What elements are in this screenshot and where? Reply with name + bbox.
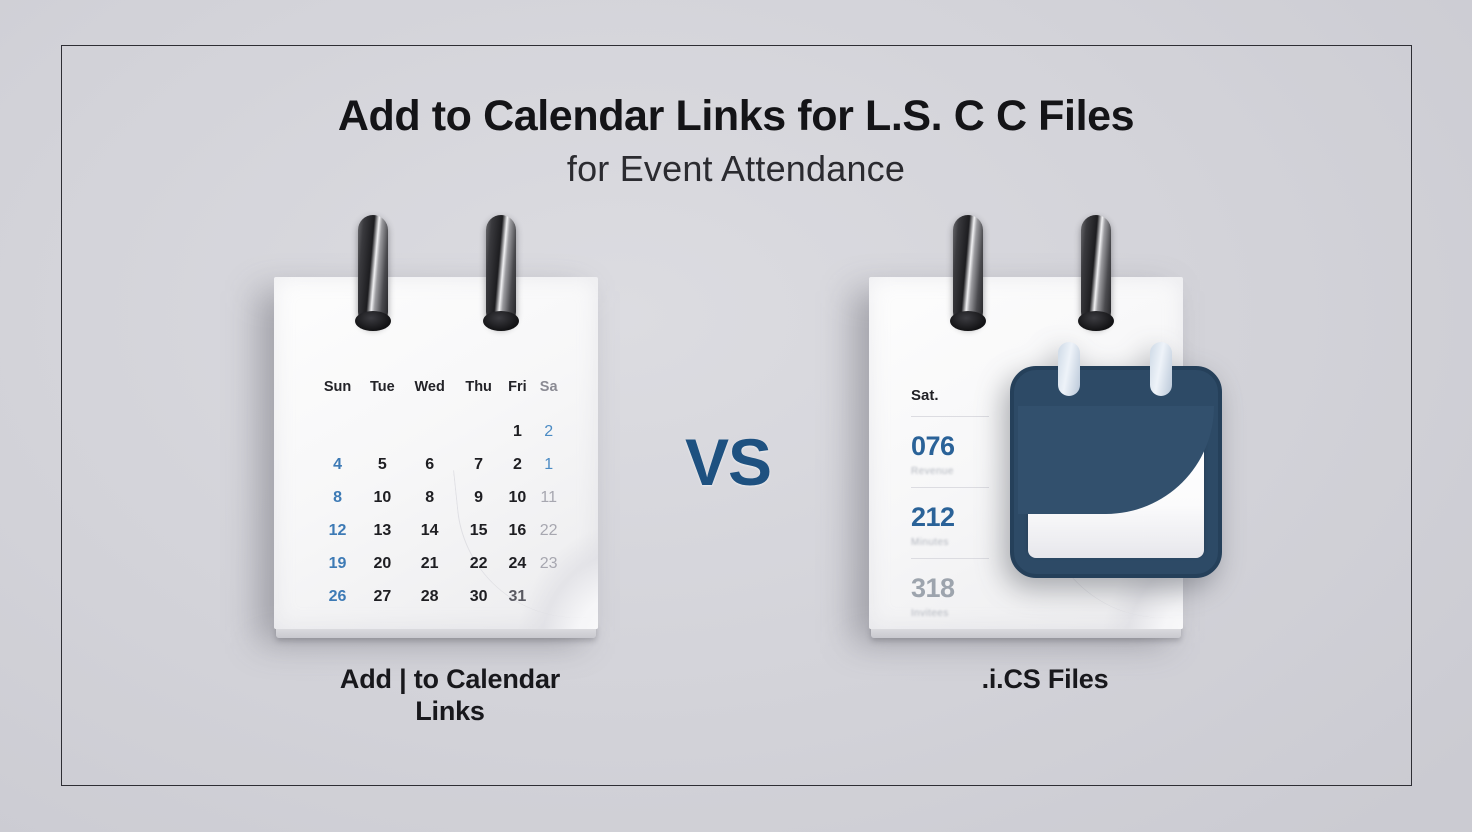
left-caption-line-1: Add | to Calendar (300, 664, 600, 696)
calendar-day-cell[interactable]: 16 (501, 514, 533, 547)
calendar-week-row: 19 20 21 22 24 23 (314, 547, 564, 580)
left-comparison-panel: Sun Tue Wed Thu Fri Sa (274, 277, 598, 629)
calendar-day-cell[interactable]: 11 (533, 481, 564, 514)
calendar-day-cell[interactable]: 27 (361, 580, 403, 613)
calendar-day-cell[interactable]: 1 (501, 415, 533, 448)
binder-ring-icon (358, 215, 388, 327)
binder-ring-icon (486, 215, 516, 327)
weekday-header-thu: Thu (456, 379, 502, 415)
weekday-header-wed: Wed (404, 379, 456, 415)
page-subtitle: for Event Attendance (0, 148, 1472, 190)
right-caption-line-1: .i.CS Files (895, 664, 1195, 696)
calendar-day-cell[interactable]: 9 (456, 481, 502, 514)
weekday-header-tue: Tue (361, 379, 403, 415)
calendar-day-cell[interactable]: 22 (456, 547, 502, 580)
calendar-day-cell[interactable]: 19 (314, 547, 361, 580)
calendar-day-cell[interactable]: 28 (404, 580, 456, 613)
calendar-day-cell[interactable]: 13 (361, 514, 403, 547)
weekday-header-fri: Fri (501, 379, 533, 415)
calendar-day-cell[interactable]: 21 (404, 547, 456, 580)
calendar-day-cell[interactable] (314, 415, 361, 448)
calendar-day-cell[interactable]: 26 (314, 580, 361, 613)
calendar-day-cell[interactable]: 10 (361, 481, 403, 514)
calendar-day-cell[interactable]: 20 (361, 547, 403, 580)
weekday-header-sat: Sa (533, 379, 564, 415)
calendar-day-cell[interactable] (456, 415, 502, 448)
stats-value: 212 (911, 502, 989, 533)
stats-sublabel: Invitees (911, 608, 989, 619)
calendar-week-row: 8 10 8 9 10 11 (314, 481, 564, 514)
calendar-sheet: Sun Tue Wed Thu Fri Sa (274, 277, 598, 629)
calendar-day-cell[interactable]: 24 (501, 547, 533, 580)
left-caption-line-2: Links (300, 696, 600, 728)
calendar-day-cell[interactable]: 12 (314, 514, 361, 547)
binder-ring-icon (953, 215, 983, 327)
calendar-day-cell[interactable]: 8 (314, 481, 361, 514)
stats-row[interactable]: 318 Invitees (911, 559, 989, 629)
calendar-day-cell[interactable]: 31 (501, 580, 533, 613)
calendar-day-cell[interactable]: 23 (533, 547, 564, 580)
weekday-header-row: Sun Tue Wed Thu Fri Sa (314, 379, 564, 415)
calendar-day-cell[interactable]: 2 (501, 448, 533, 481)
calendar-day-cell[interactable]: 22 (533, 514, 564, 547)
calendar-peg-icon (1150, 342, 1172, 396)
binder-ring-icon (1081, 215, 1111, 327)
calendar-day-cell[interactable]: 6 (404, 448, 456, 481)
calendar-week-row: 4 5 6 7 2 1 (314, 448, 564, 481)
stats-value: 318 (911, 573, 989, 604)
calendar-day-cell[interactable]: 4 (314, 448, 361, 481)
left-panel-caption: Add | to Calendar Links (300, 664, 600, 728)
calendar-day-cell[interactable]: 8 (404, 481, 456, 514)
stats-column-header: Sat. (911, 387, 989, 417)
calendar-week-row: 1 2 (314, 415, 564, 448)
stats-value: 076 (911, 431, 989, 462)
versus-separator-label: VS (668, 424, 788, 500)
page-title: Add to Calendar Links for L.S. C C Files (0, 92, 1472, 141)
right-panel-caption: .i.CS Files (895, 664, 1195, 696)
stats-column: Sat. 076 Revenue 212 Minutes 318 Invitee… (911, 387, 989, 629)
month-grid: Sun Tue Wed Thu Fri Sa (314, 379, 564, 613)
calendar-day-cell[interactable]: 5 (361, 448, 403, 481)
calendar-week-row: 26 27 28 30 31 (314, 580, 564, 613)
calendar-peg-icon (1058, 342, 1080, 396)
calendar-day-cell[interactable]: 10 (501, 481, 533, 514)
calendar-icon-body (1010, 366, 1222, 578)
calendar-icon (1010, 366, 1222, 578)
calendar-day-cell[interactable]: 14 (404, 514, 456, 547)
calendar-day-cell[interactable]: 2 (533, 415, 564, 448)
stats-sublabel: Revenue (911, 466, 989, 477)
stats-row[interactable]: 212 Minutes (911, 488, 989, 559)
calendar-day-cell[interactable]: 30 (456, 580, 502, 613)
stats-row[interactable]: 076 Revenue (911, 417, 989, 488)
calendar-day-cell[interactable]: 7 (456, 448, 502, 481)
calendar-day-cell[interactable] (533, 580, 564, 613)
calendar-day-cell[interactable] (404, 415, 456, 448)
weekday-header-sun: Sun (314, 379, 361, 415)
stats-sublabel: Minutes (911, 537, 989, 548)
calendar-day-cell[interactable]: 15 (456, 514, 502, 547)
calendar-day-cell[interactable]: 1 (533, 448, 564, 481)
calendar-week-row: 12 13 14 15 16 22 (314, 514, 564, 547)
calendar-day-cell[interactable] (361, 415, 403, 448)
